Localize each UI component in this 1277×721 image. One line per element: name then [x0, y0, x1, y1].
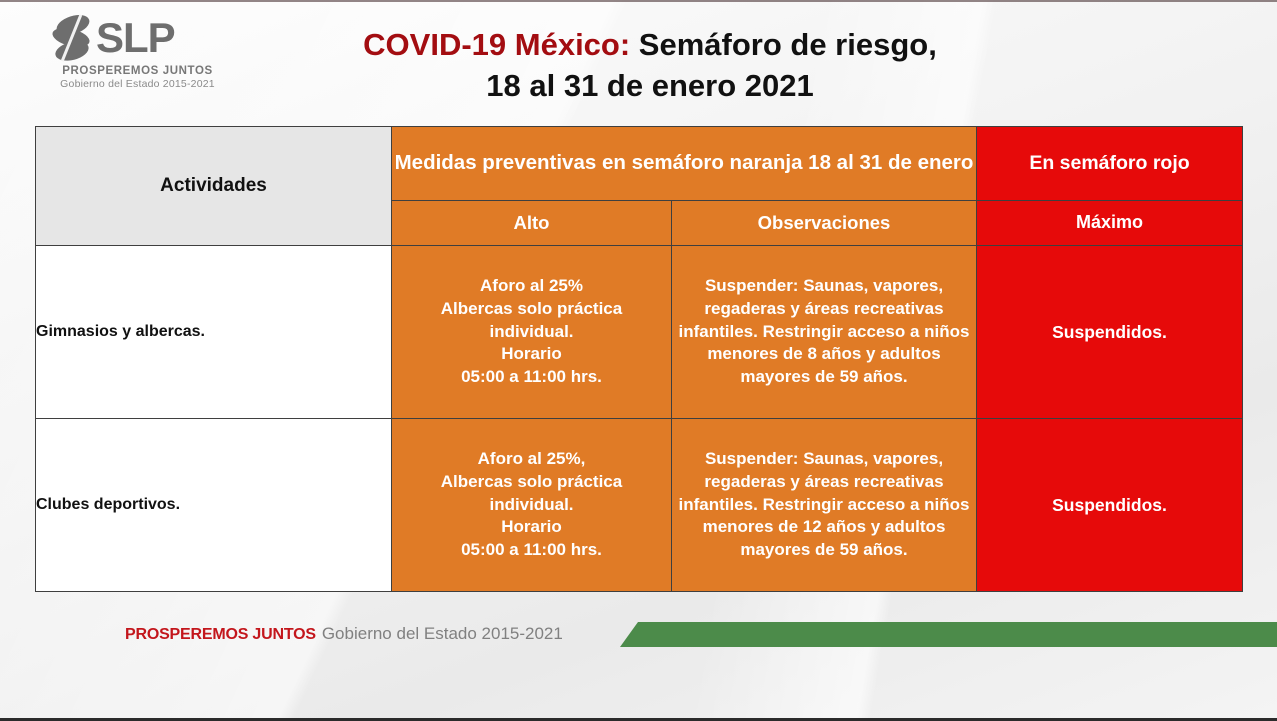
header-red-group: En semáforo rojo [977, 127, 1243, 201]
header-sub-maximo: Máximo [977, 200, 1243, 245]
logo-subtagline: Gobierno del Estado 2015-2021 [50, 78, 225, 90]
table-row: Clubes deportivos. Aforo al 25%,Albercas… [36, 419, 1243, 592]
cell-text-line: individual. [392, 494, 671, 517]
logo-tagline: PROSPEREMOS JUNTOS [50, 65, 225, 77]
slp-logo: SLP PROSPEREMOS JUNTOS Gobierno del Esta… [50, 12, 225, 94]
title-line-2: 18 al 31 de enero 2021 [250, 65, 1050, 106]
slide-canvas: SLP PROSPEREMOS JUNTOS Gobierno del Esta… [0, 0, 1277, 721]
row-alto: Aforo al 25%,Albercas solo prácticaindiv… [392, 419, 672, 592]
row-maximo: Suspendidos. [977, 419, 1243, 592]
footer-brand: PROSPEREMOS JUNTOS [125, 626, 316, 643]
cell-text-line: 05:00 a 11:00 hrs. [392, 539, 671, 562]
page-title: COVID-19 México: Semáforo de riesgo, 18 … [250, 24, 1050, 106]
semaforo-table: Actividades Medidas preventivas en semáf… [35, 126, 1243, 592]
header-sub-observaciones: Observaciones [672, 200, 977, 245]
row-observaciones: Suspender: Saunas, vapores, regaderas y … [672, 246, 977, 419]
cell-text-line: Aforo al 25%, [392, 448, 671, 471]
cell-text-line: Albercas solo práctica [392, 471, 671, 494]
footer-green-bar [620, 622, 1277, 647]
logo-row: SLP [50, 12, 225, 64]
footer-text: PROSPEREMOS JUNTOSGobierno del Estado 20… [125, 624, 563, 644]
header-actividades: Actividades [36, 127, 392, 246]
row-maximo: Suspendidos. [977, 246, 1243, 419]
cell-text-line: individual. [392, 321, 671, 344]
footer-subtitle: Gobierno del Estado 2015-2021 [322, 624, 563, 643]
title-rest: Semáforo de riesgo, [630, 27, 937, 62]
cell-text-line: Horario [392, 516, 671, 539]
table-row: Gimnasios y albercas. Aforo al 25%Alberc… [36, 246, 1243, 419]
cell-text-line: Albercas solo práctica [392, 298, 671, 321]
row-alto: Aforo al 25%Albercas solo prácticaindivi… [392, 246, 672, 419]
title-accent: COVID-19 México: [363, 27, 630, 62]
slide-footer: PROSPEREMOS JUNTOSGobierno del Estado 20… [0, 622, 1277, 656]
cell-text-line: Aforo al 25% [392, 275, 671, 298]
title-line-1: COVID-19 México: Semáforo de riesgo, [250, 24, 1050, 65]
row-activity: Gimnasios y albercas. [36, 246, 392, 419]
row-observaciones: Suspender: Saunas, vapores, regaderas y … [672, 419, 977, 592]
cell-text-line: 05:00 a 11:00 hrs. [392, 366, 671, 389]
header-orange-group: Medidas preventivas en semáforo naranja … [392, 127, 977, 201]
cell-text-line: Horario [392, 343, 671, 366]
slp-logo-mark-icon [50, 14, 98, 62]
table-header-row-1: Actividades Medidas preventivas en semáf… [36, 127, 1243, 201]
logo-wordmark: SLP [96, 17, 175, 59]
header-sub-alto: Alto [392, 200, 672, 245]
top-edge-strip [0, 0, 1277, 2]
row-activity: Clubes deportivos. [36, 419, 392, 592]
